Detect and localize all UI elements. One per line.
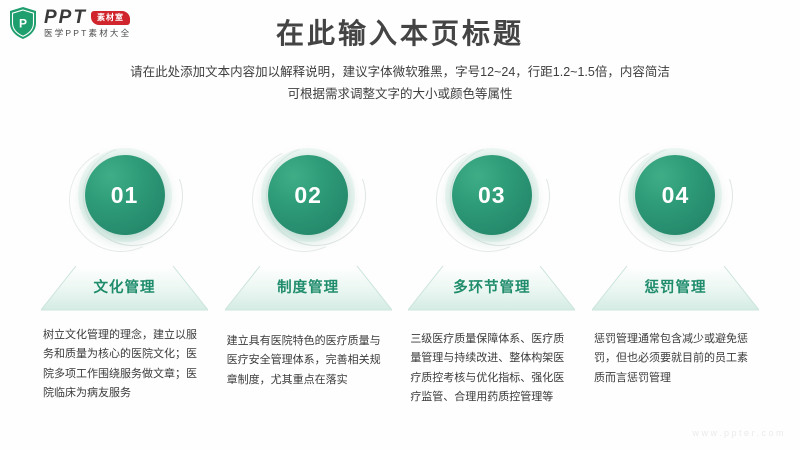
step-marker-03: 03 [432,140,552,250]
column-body: 三级医疗质量保障体系、医疗质量管理与持续改进、整体构架医疗质控考核与优化指标、强… [410,330,573,407]
heading-ribbon: 惩罚管理 [589,264,762,312]
column-body: 树立文化管理的理念，建立以服务和质量为核心的医院文化；医院多项工作围绕服务做文章… [43,326,206,403]
subtitle-line-1: 请在此处添加文本内容加以解释说明，建议字体微软雅黑，字号12~24，行距1.2~… [0,62,800,84]
step-circle[interactable]: 02 [268,155,348,235]
page-title: 在此输入本页标题 [0,16,800,52]
step-number: 03 [478,184,506,207]
column-04[interactable]: 04 惩罚管理 [589,140,762,440]
step-number: 02 [294,184,322,207]
step-circle[interactable]: 01 [85,155,165,235]
step-marker-02: 02 [248,140,368,250]
heading-ribbon: 多环节管理 [405,264,578,312]
column-01[interactable]: 01 文化管理 [38,140,211,440]
step-number: 01 [111,184,139,207]
column-heading: 文化管理 [38,264,211,312]
step-number: 04 [662,184,690,207]
column-body: 惩罚管理通常包含减少或避免惩罚，但也必须要就目前的员工素质而言惩罚管理 [594,330,757,388]
slide-canvas: P PPT 素材室 医学PPT素材大全 在此输入本页标题 请在此处添加文本内容加… [0,0,800,450]
site-watermark: www.ppter.com [692,428,786,438]
column-heading: 多环节管理 [405,264,578,312]
step-marker-01: 01 [65,140,185,250]
column-heading: 惩罚管理 [589,264,762,312]
column-03[interactable]: 03 多环节管理 [405,140,578,440]
step-circle[interactable]: 03 [452,155,532,235]
column-02[interactable]: 02 制度管理 [222,140,395,440]
subtitle-line-2: 可根据需求调整文字的大小或颜色等属性 [0,84,800,106]
heading-ribbon: 文化管理 [38,264,211,312]
column-heading: 制度管理 [222,264,395,312]
heading-ribbon: 制度管理 [222,264,395,312]
step-circle[interactable]: 04 [635,155,715,235]
content-columns: 01 文化管理 [0,140,800,440]
column-body: 建立具有医院特色的医疗质量与医疗安全管理体系，完善相关规章制度，尤其重点在落实 [227,332,390,390]
page-subtitle: 请在此处添加文本内容加以解释说明，建议字体微软雅黑，字号12~24，行距1.2~… [0,62,800,106]
step-marker-04: 04 [615,140,735,250]
